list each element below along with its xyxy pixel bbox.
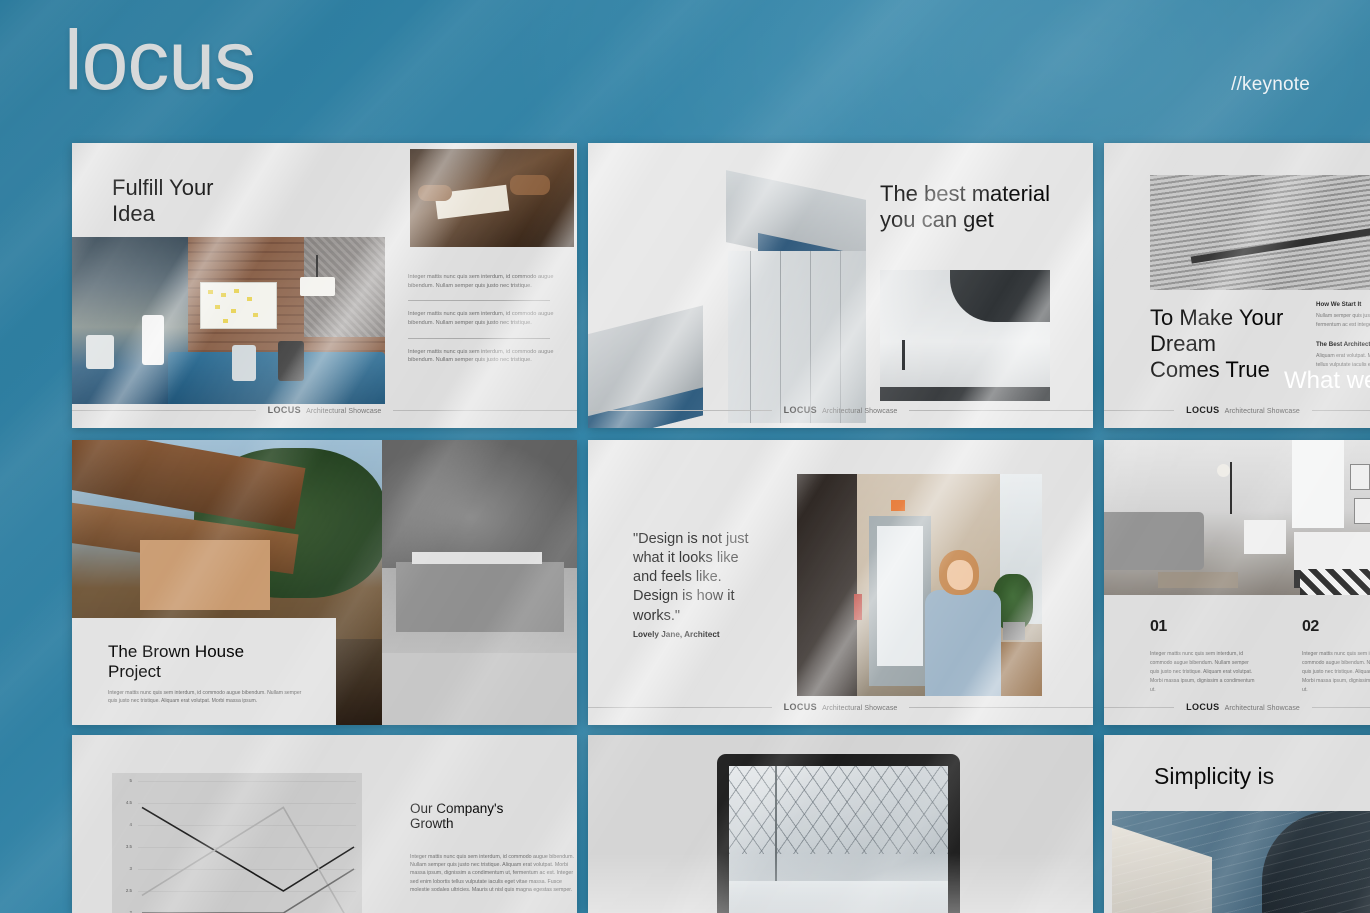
light-bulb <box>1217 464 1230 477</box>
footer-brand-name: LOCUS <box>784 702 818 712</box>
footer-brand-name: LOCUS <box>1186 702 1220 712</box>
floor-band <box>880 387 1050 401</box>
lamp-pole <box>316 255 318 279</box>
footer-brand-subtitle: Architectural Showcase <box>306 408 381 415</box>
tree-canopy <box>382 440 577 568</box>
house-roof <box>412 552 542 564</box>
slide-thumbnail-1[interactable]: Fulfill Your Idea Integer mattis nunc qu… <box>72 143 577 428</box>
slide1-team-photo <box>72 237 385 404</box>
chart-line-series-light-gray <box>142 807 354 913</box>
slide5-attribution: Lovely Jane, Architect <box>633 630 720 639</box>
person <box>142 315 164 365</box>
picture-frame <box>1354 498 1370 524</box>
slide4-body: Integer mattis nunc quis sem interdum, i… <box>108 690 304 706</box>
chart-series-layer <box>112 773 362 913</box>
item-body: Integer mattis nunc quis sem interdum, i… <box>1150 650 1256 695</box>
slide4-text-card: The Brown House Project Integer mattis n… <box>72 618 336 725</box>
slide6-item-01: 01 Integer mattis nunc quis sem interdum… <box>1104 618 1256 695</box>
slide1-body-3: Integer mattis nunc quis sem interdum, i… <box>408 348 576 365</box>
item-body: Integer mattis nunc quis sem interdum, i… <box>1302 650 1370 695</box>
desk <box>995 642 1042 696</box>
section-heading-1: How We Start It <box>1316 301 1370 308</box>
slide-thumbnail-9[interactable]: Simplicity is <box>1104 735 1370 913</box>
slide2-footer: LOCUS Architectural Showcase <box>588 401 1093 419</box>
slide9-architecture-photo <box>1112 811 1370 913</box>
footer-brand-subtitle: Architectural Showcase <box>1225 408 1300 415</box>
footer-brand-subtitle: Architectural Showcase <box>1225 705 1300 712</box>
slide1-handshake-photo <box>410 149 574 247</box>
slide-thumbnail-6[interactable]: 01 Integer mattis nunc quis sem interdum… <box>1104 440 1370 725</box>
house-body <box>396 562 564 632</box>
picture-frame <box>1350 464 1370 490</box>
slide3-roof-photo <box>1150 175 1370 290</box>
slide-thumbnail-8[interactable] <box>588 735 1093 913</box>
slide-thumbnail-3[interactable]: What we To Make Your Dream Comes True Ho… <box>1104 143 1370 428</box>
white-chair <box>1244 520 1286 554</box>
glass-roof-truss <box>729 766 948 854</box>
person-body <box>925 590 1001 696</box>
slide7-text-column: Our Company's Growth Integer mattis nunc… <box>410 801 576 894</box>
person <box>232 345 256 381</box>
slide6-interior-photo <box>1104 440 1370 595</box>
slide4-title: The Brown House Project <box>108 642 244 682</box>
brand-logo: locus <box>64 18 255 102</box>
slide5-quote: "Design is not just what it looks like a… <box>633 530 763 626</box>
slide6-footer: LOCUS Architectural Showcase <box>1104 698 1370 716</box>
divider <box>408 338 550 339</box>
driveway <box>382 653 577 725</box>
window <box>1292 440 1344 528</box>
footer-brand-name: LOCUS <box>268 405 302 415</box>
coffee-table <box>1158 572 1238 588</box>
hand <box>510 175 550 195</box>
footer-brand-subtitle: Architectural Showcase <box>822 705 897 712</box>
slide5-portrait-photo <box>797 474 1042 696</box>
slide1-body-1: Integer mattis nunc quis sem interdum, i… <box>408 273 576 290</box>
slide3-footer: LOCUS Architectural Showcase <box>1104 401 1370 419</box>
door-glass <box>877 526 923 666</box>
slide1-body-2: Integer mattis nunc quis sem interdum, i… <box>408 310 576 327</box>
slide-thumbnail-2[interactable]: The best material you can get LOCUS Arch… <box>588 143 1093 428</box>
fire-extinguisher <box>854 594 862 620</box>
slide1-title: Fulfill Your Idea <box>112 175 214 227</box>
floor-lamp-pole <box>1230 462 1232 514</box>
floor-reflection <box>588 853 1093 913</box>
section-body-1: Nullam semper quis justo nec tristique, … <box>1316 312 1370 330</box>
grey-sofa <box>1104 512 1204 570</box>
person <box>278 341 304 381</box>
growth-line-chart: 54.543.532.521.5 <box>112 773 362 913</box>
footer-brand-name: LOCUS <box>784 405 818 415</box>
slide-thumbnail-7[interactable]: 54.543.532.521.5 Our Company's Growth In… <box>72 735 577 913</box>
slide6-item-02: 02 Integer mattis nunc quis sem interdum… <box>1256 618 1370 695</box>
hand <box>418 185 452 201</box>
patterned-rug <box>1300 569 1370 595</box>
house-wall <box>140 540 270 610</box>
slide7-title: Our Company's Growth <box>410 801 576 831</box>
item-number: 01 <box>1150 618 1256 636</box>
section-heading-2: The Best Architect <box>1316 341 1370 348</box>
slide3-title: To Make Your Dream Comes True <box>1150 305 1283 383</box>
person-face <box>947 560 973 590</box>
door-handle <box>902 340 905 370</box>
glass-facade-center <box>728 251 866 423</box>
slide-thumbnail-5[interactable]: "Design is not just what it looks like a… <box>588 440 1093 725</box>
roof-beam <box>1191 225 1370 263</box>
dark-wall <box>797 474 857 696</box>
slide7-body: Integer mattis nunc quis sem interdum, i… <box>410 853 576 894</box>
person <box>86 335 114 369</box>
header: locus //keynote <box>0 0 1370 143</box>
footer-brand-subtitle: Architectural Showcase <box>822 408 897 415</box>
slide4-house-photo-bw <box>382 440 577 725</box>
exit-sign <box>891 500 905 511</box>
slide1-text-column: Integer mattis nunc quis sem interdum, i… <box>408 273 576 365</box>
slide2-title: The best material you can get <box>880 181 1080 233</box>
chart-line-series-black <box>142 807 354 891</box>
whiteboard <box>200 282 277 329</box>
slide1-footer: LOCUS Architectural Showcase <box>72 401 577 419</box>
slide9-title: Simplicity is <box>1154 763 1274 790</box>
slide-thumbnail-4[interactable]: The Brown House Project Integer mattis n… <box>72 440 577 725</box>
divider <box>408 300 550 301</box>
header-tagline: //keynote <box>1231 74 1310 96</box>
panel-seams <box>1112 811 1370 913</box>
slide6-columns: 01 Integer mattis nunc quis sem interdum… <box>1104 618 1370 695</box>
footer-brand-name: LOCUS <box>1186 405 1220 415</box>
plant-pot <box>1003 622 1025 640</box>
perforated-ceiling <box>950 270 1050 322</box>
slide3-overlay-title: What we <box>1284 367 1370 395</box>
slide2-interior-photo <box>880 270 1050 401</box>
slide5-footer: LOCUS Architectural Showcase <box>588 698 1093 716</box>
pendant-lamp <box>300 277 335 296</box>
item-number: 02 <box>1302 618 1370 636</box>
blue-sofa <box>168 352 385 404</box>
